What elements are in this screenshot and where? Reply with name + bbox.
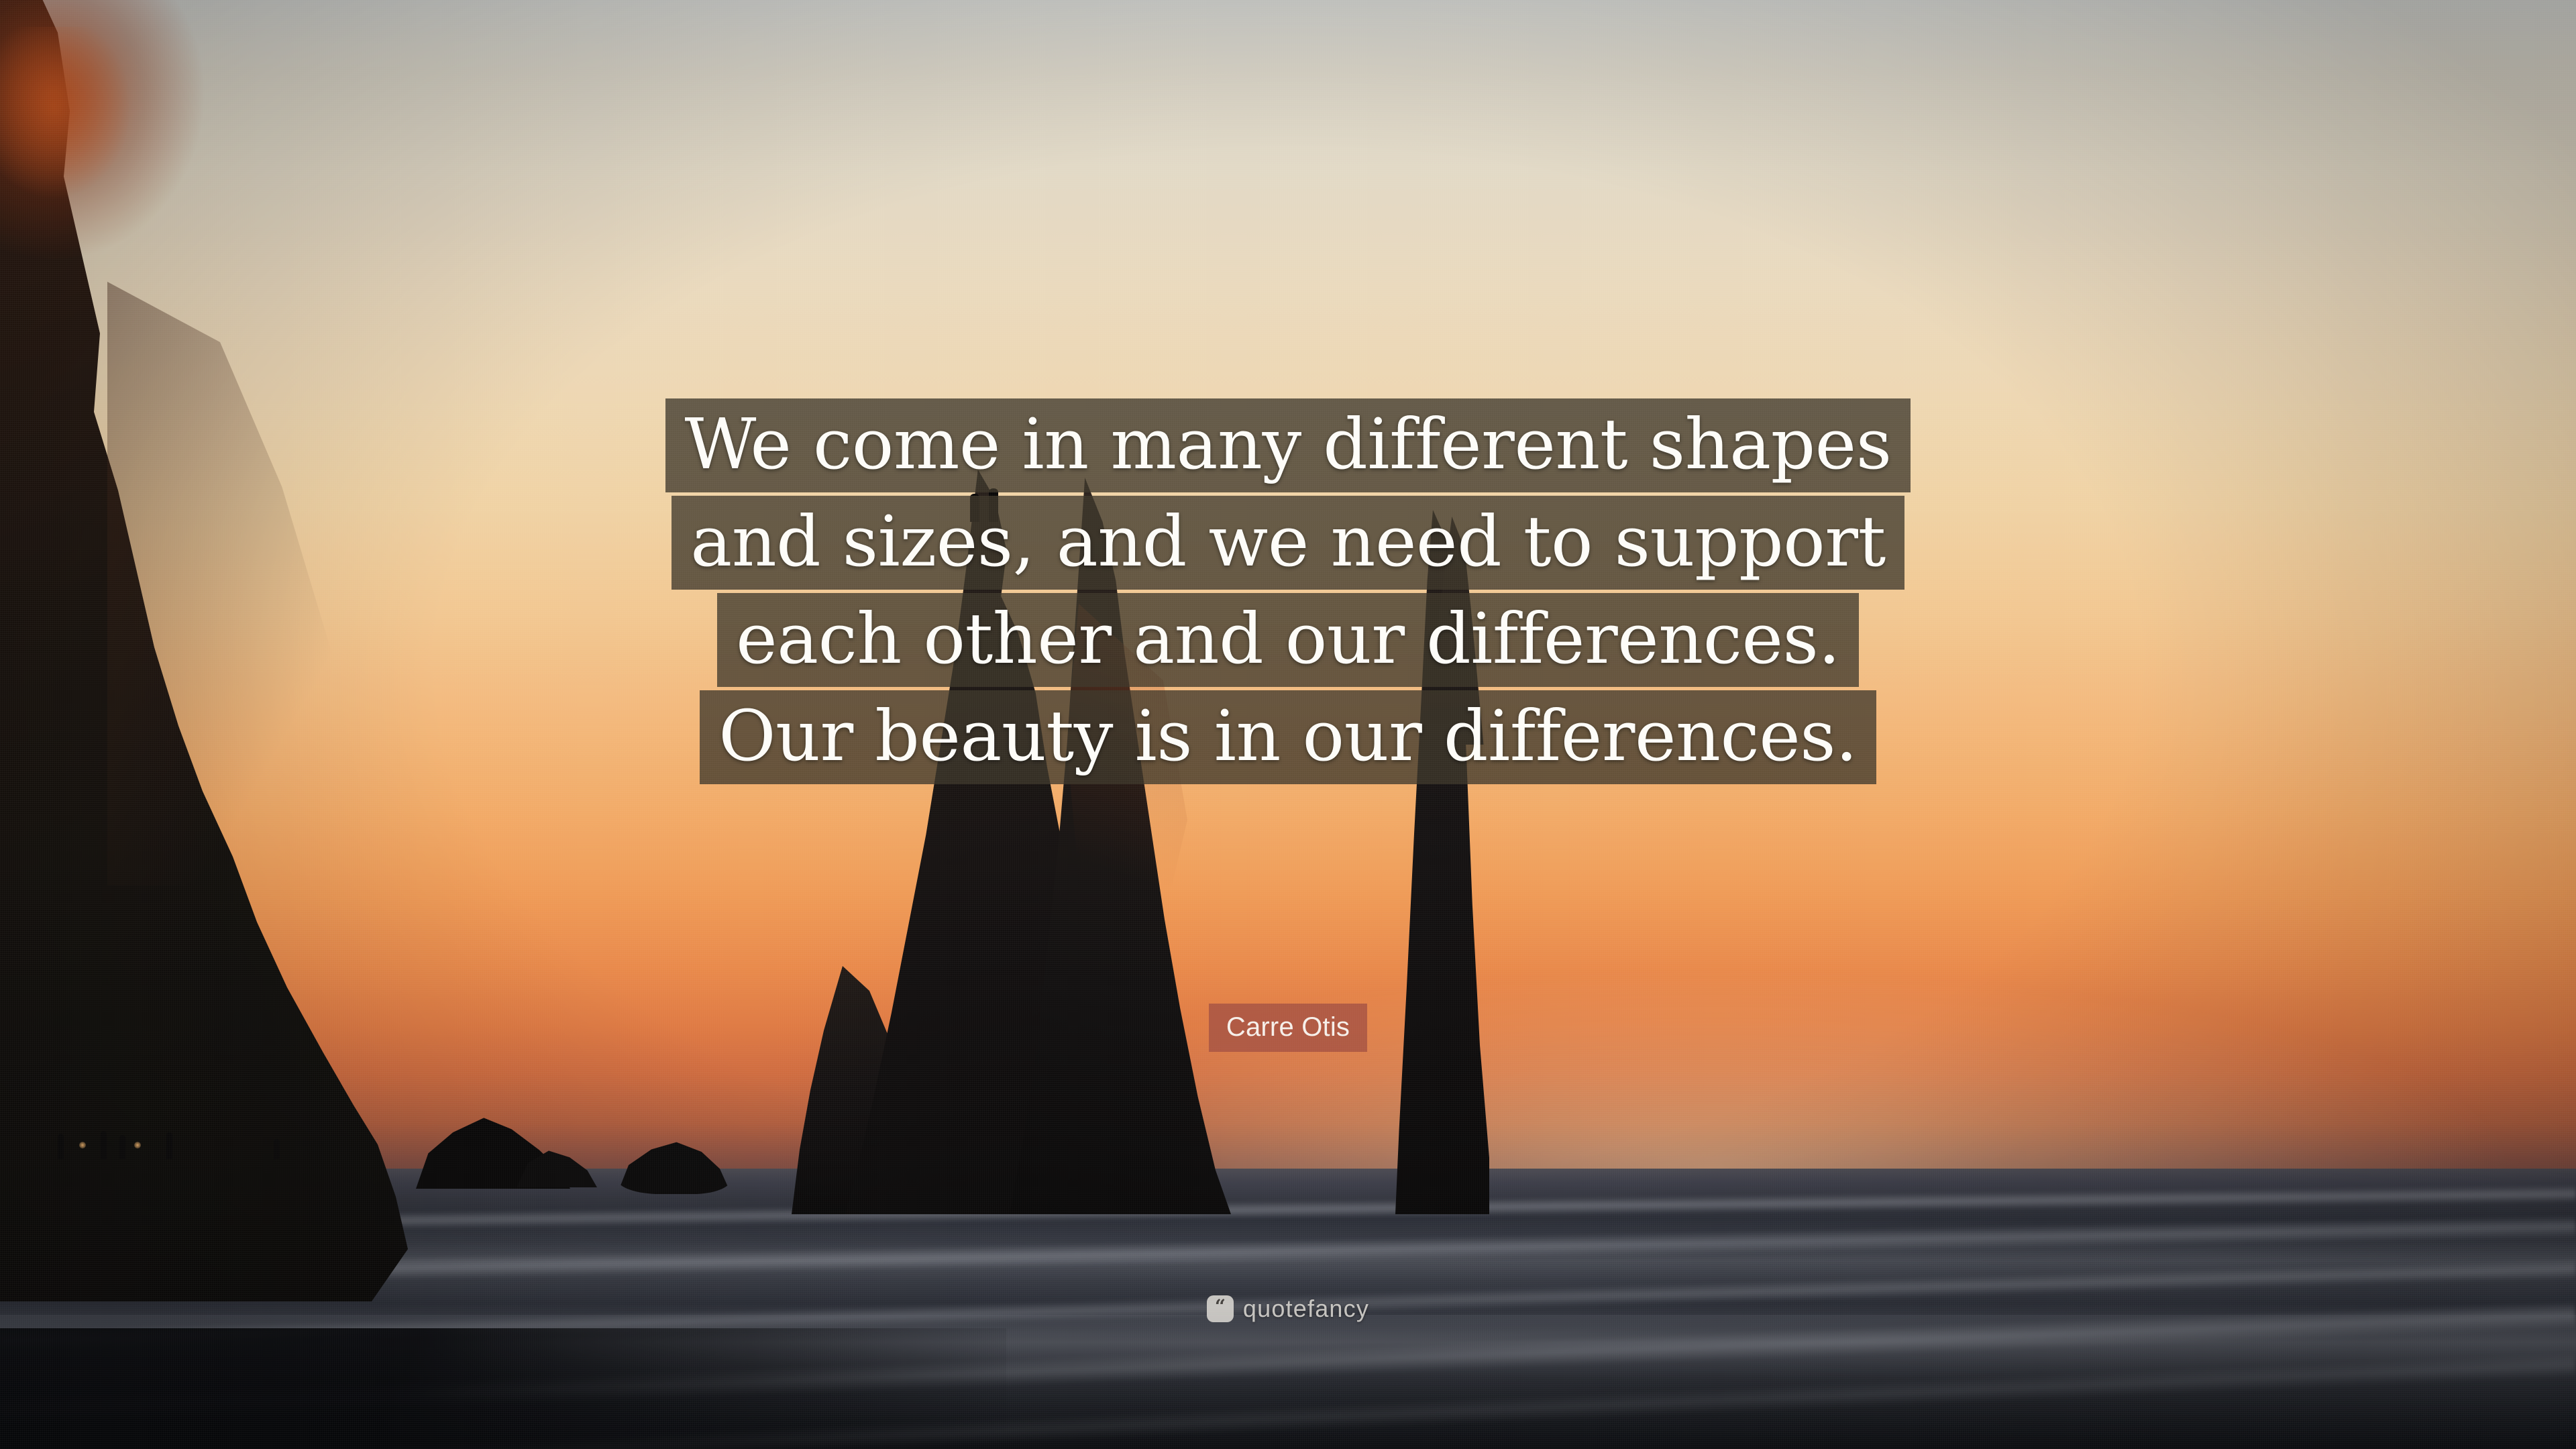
quote-line-2: and sizes, and we need to support [672, 496, 1904, 590]
cliff-sunlight-highlight [0, 27, 195, 248]
distant-light [79, 1142, 86, 1148]
quote-line-4: Our beauty is in our differences. [700, 690, 1876, 784]
person-silhouette [58, 1134, 64, 1159]
watermark-brand-label: quotefancy [1243, 1295, 1369, 1323]
quote-line-3: each other and our differences. [717, 593, 1859, 687]
beach-people-silhouettes [0, 1106, 510, 1159]
dark-sand-foreground [0, 1328, 1006, 1449]
distant-light [134, 1142, 141, 1148]
person-silhouette [274, 1139, 280, 1159]
quote-block: We come in many different shapes and siz… [0, 398, 2576, 784]
author-name-badge[interactable]: Carre Otis [1209, 1004, 1367, 1052]
quote-line-1: We come in many different shapes [665, 398, 1910, 492]
person-silhouette [119, 1135, 125, 1159]
wallpaper-canvas: We come in many different shapes and siz… [0, 0, 2576, 1449]
quotefancy-watermark[interactable]: “ quotefancy [0, 1295, 2576, 1323]
quote-mark-icon: “ [1207, 1295, 1234, 1322]
person-silhouette [101, 1131, 107, 1159]
person-silhouette [166, 1132, 172, 1159]
author-attribution: Carre Otis [0, 1004, 2576, 1052]
